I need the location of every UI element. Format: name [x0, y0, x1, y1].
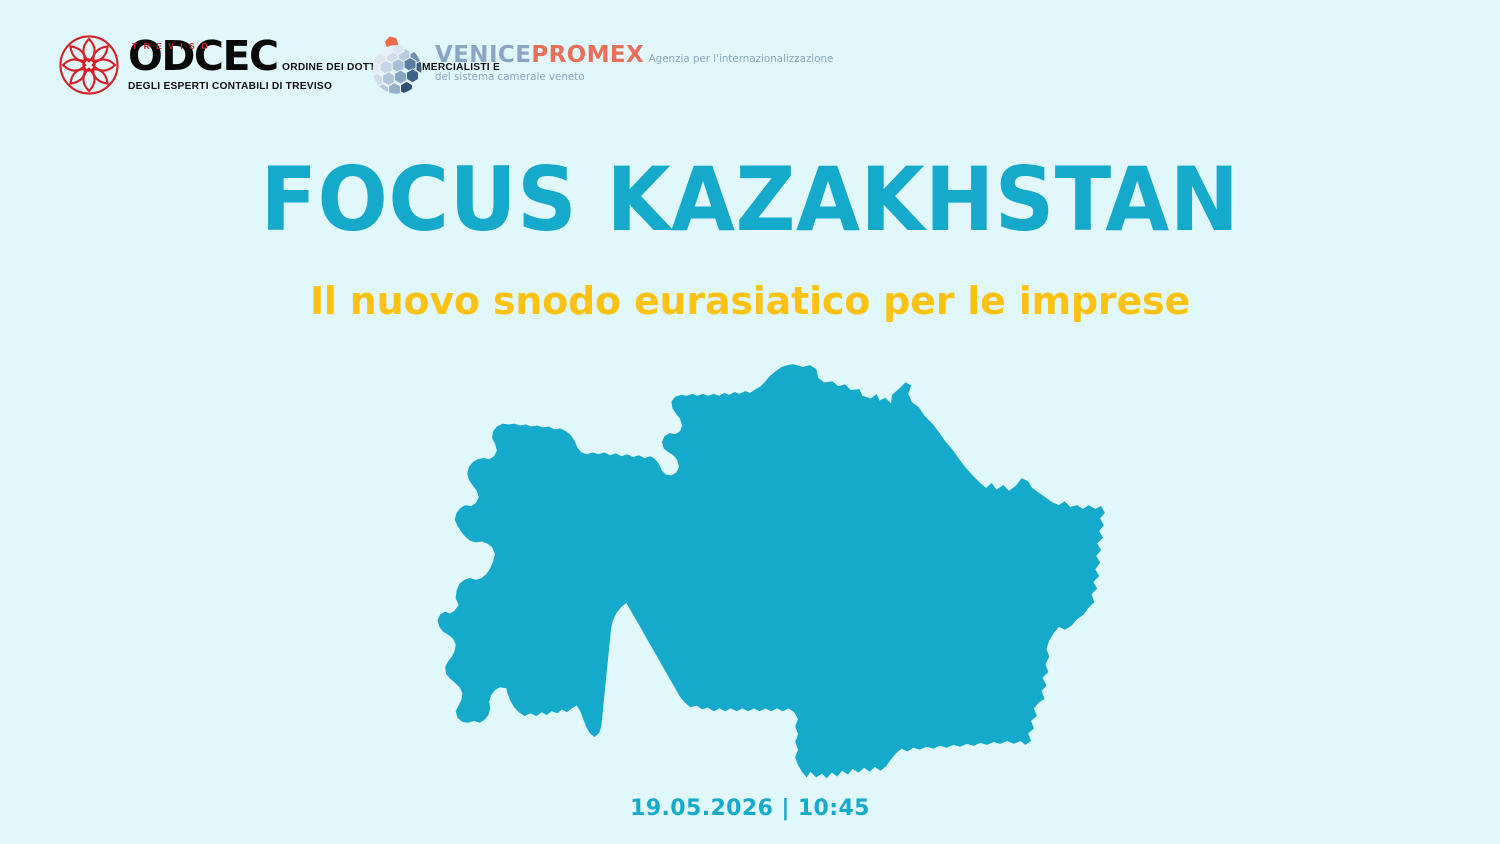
kazakhstan-map-svg [378, 352, 1126, 780]
hex-globe-icon [366, 30, 428, 100]
logo-bar: ODCEC TREVISO ORDINE DEI DOTTORI COMMERC… [0, 22, 1500, 112]
odcec-acronym: ODCEC [128, 32, 278, 80]
kazakhstan-silhouette [455, 364, 1105, 778]
presentation-slide: ODCEC TREVISO ORDINE DEI DOTTORI COMMERC… [0, 0, 1500, 844]
slide-subtitle: Il nuovo snodo eurasiatico per le impres… [0, 281, 1500, 323]
venicepromex-word-promex: PROMEX [531, 42, 644, 68]
kazakhstan-map [378, 352, 1126, 780]
slide-title: FOCUS KAZAKHSTAN [45, 155, 1455, 245]
venicepromex-word-venice: VENICE [435, 42, 531, 68]
venicepromex-word: VENICEPROMEX [435, 42, 644, 68]
venicepromex-logo: VENICEPROMEX Agenzia per l'internazional… [366, 30, 833, 100]
event-datetime: 19.05.2026 | 10:45 [0, 796, 1500, 821]
odcec-rosette-icon [58, 34, 120, 96]
venicepromex-wordmark: VENICEPROMEX Agenzia per l'internazional… [435, 30, 833, 85]
